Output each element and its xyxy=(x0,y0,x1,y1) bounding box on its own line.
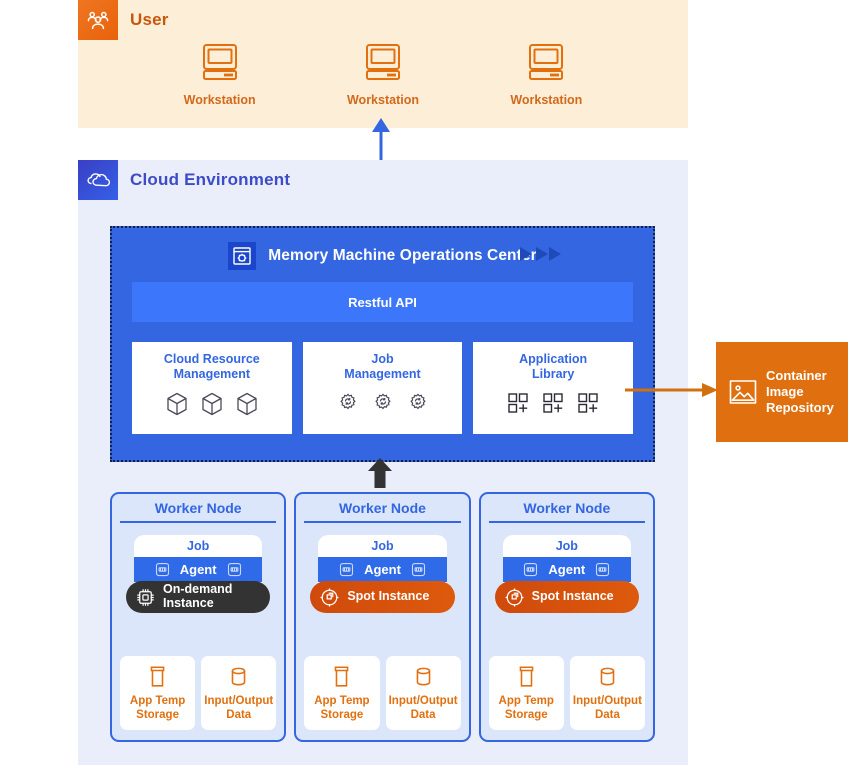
user-band-header: User xyxy=(78,0,688,40)
card-title-line1: Job xyxy=(344,352,420,367)
memory-chip-icon xyxy=(595,562,610,577)
workstation-item[interactable]: Workstation xyxy=(155,42,285,107)
storage-label-line1: Input/Output xyxy=(573,695,642,708)
storage-label: Input/Output Data xyxy=(389,695,458,721)
agent-bar[interactable]: Agent xyxy=(503,557,631,582)
operations-center-panel: Memory Machine Operations Center Restful… xyxy=(110,226,655,462)
diagram-canvas: User Workstation Workstation xyxy=(0,0,856,772)
cpu-chip-icon xyxy=(135,587,156,608)
card-job-management[interactable]: Job Management xyxy=(303,342,463,434)
memory-chip-icon xyxy=(523,562,538,577)
bucket-icon xyxy=(146,664,169,690)
restful-api-label: Restful API xyxy=(348,295,417,310)
play-triangle-icon xyxy=(535,246,549,262)
storage-label-line2: Data xyxy=(389,709,458,722)
agent-bar[interactable]: Agent xyxy=(318,557,446,582)
instance-pill-spot[interactable]: Spot Instance xyxy=(310,581,454,613)
instance-label-line1: Spot Instance xyxy=(347,589,429,603)
storage-card-io-data[interactable]: Input/Output Data xyxy=(201,656,276,730)
storage-label-line1: App Temp xyxy=(130,695,185,708)
job-stack: Job Agent Spot Instance xyxy=(304,535,460,613)
card-title-line2: Management xyxy=(164,367,260,382)
job-label: Job xyxy=(503,535,631,553)
worker-node-title: Worker Node xyxy=(304,500,460,523)
storage-label-line2: Data xyxy=(204,709,273,722)
container-repo-label: Container Image Repository xyxy=(766,368,834,417)
spot-target-icon xyxy=(319,587,340,608)
storage-label-line1: Input/Output xyxy=(204,695,273,708)
user-section-title: User xyxy=(130,0,169,40)
workstation-row: Workstation Workstation Workstat xyxy=(78,42,688,128)
card-title: Cloud Resource Management xyxy=(164,352,260,382)
memory-chip-icon xyxy=(339,562,354,577)
app-grid-plus-icon xyxy=(507,392,529,414)
agent-label: Agent xyxy=(548,562,585,577)
card-cloud-resource-management[interactable]: Cloud Resource Management xyxy=(132,342,292,434)
gear-sync-icon xyxy=(407,392,429,414)
memory-chip-icon xyxy=(155,562,170,577)
storage-card-app-temp[interactable]: App Temp Storage xyxy=(489,656,564,730)
worker-node[interactable]: Worker Node Job Agent Spot Instance xyxy=(294,492,470,742)
workstation-label: Workstation xyxy=(155,93,285,107)
storage-card-io-data[interactable]: Input/Output Data xyxy=(386,656,461,730)
instance-label: Spot Instance xyxy=(347,590,429,604)
repo-label-line3: Repository xyxy=(766,400,834,416)
cloud-icon xyxy=(78,160,118,200)
worker-node[interactable]: Worker Node Job Agent Spot Instance xyxy=(479,492,655,742)
app-grid-plus-icon xyxy=(542,392,564,414)
card-icon-row xyxy=(337,392,429,414)
database-cylinder-icon xyxy=(227,664,250,690)
card-title-line2: Management xyxy=(344,367,420,382)
cube-3d-icon xyxy=(201,392,223,416)
card-title-line2: Library xyxy=(519,367,587,382)
instance-label-line1: Spot Instance xyxy=(532,589,614,603)
agent-label: Agent xyxy=(364,562,401,577)
operations-center-cards: Cloud Resource Management Job Management xyxy=(132,342,633,434)
worker-flow-arrows-left xyxy=(519,246,549,262)
cube-3d-icon xyxy=(166,392,188,416)
instance-label-line1: On-demand xyxy=(163,582,232,596)
job-stack: Job Agent On-demand Instance xyxy=(120,535,276,613)
storage-label: App Temp Storage xyxy=(314,695,369,721)
window-gear-icon xyxy=(228,242,256,270)
worker-node-title: Worker Node xyxy=(489,500,645,523)
spot-target-icon xyxy=(504,587,525,608)
database-cylinder-icon xyxy=(412,664,435,690)
instance-pill-ondemand[interactable]: On-demand Instance xyxy=(126,581,270,613)
monitor-icon xyxy=(364,42,402,82)
restful-api-bar[interactable]: Restful API xyxy=(132,282,633,322)
card-title: Application Library xyxy=(519,352,587,382)
job-stack: Job Agent Spot Instance xyxy=(489,535,645,613)
connector-workers-to-ops-center xyxy=(366,458,394,493)
instance-label: On-demand Instance xyxy=(163,583,232,611)
bucket-icon xyxy=(515,664,538,690)
storage-card-app-temp[interactable]: App Temp Storage xyxy=(120,656,195,730)
worker-node[interactable]: Worker Node Job Agent On-demand xyxy=(110,492,286,742)
storage-label: App Temp Storage xyxy=(499,695,554,721)
container-image-repository[interactable]: Container Image Repository xyxy=(716,342,848,442)
monitor-icon xyxy=(201,42,239,82)
memory-chip-icon xyxy=(227,562,242,577)
card-title: Job Management xyxy=(344,352,420,382)
storage-card-io-data[interactable]: Input/Output Data xyxy=(570,656,645,730)
memory-chip-icon xyxy=(411,562,426,577)
instance-label-line2: Instance xyxy=(163,596,214,610)
storage-label-line1: App Temp xyxy=(314,695,369,708)
storage-label-line2: Storage xyxy=(130,709,185,722)
workstation-label: Workstation xyxy=(481,93,611,107)
instance-label: Spot Instance xyxy=(532,590,614,604)
card-application-library[interactable]: Application Library xyxy=(473,342,633,434)
cloud-section-title: Cloud Environment xyxy=(130,160,290,200)
instance-pill-spot[interactable]: Spot Instance xyxy=(495,581,639,613)
agent-bar[interactable]: Agent xyxy=(134,557,262,582)
storage-card-app-temp[interactable]: App Temp Storage xyxy=(304,656,379,730)
workstation-item[interactable]: Workstation xyxy=(481,42,611,107)
bucket-icon xyxy=(330,664,353,690)
agent-label: Agent xyxy=(180,562,217,577)
storage-label: App Temp Storage xyxy=(130,695,185,721)
app-grid-plus-icon xyxy=(577,392,599,414)
user-section: User Workstation Workstation xyxy=(78,0,688,128)
image-picture-icon xyxy=(728,377,758,407)
play-triangle-icon xyxy=(548,246,562,262)
operations-center-title: Memory Machine Operations Center xyxy=(268,247,537,265)
storage-row: App Temp Storage Input/Output Data xyxy=(304,656,460,730)
job-label: Job xyxy=(318,535,446,553)
storage-label-line1: Input/Output xyxy=(389,695,458,708)
job-label: Job xyxy=(134,535,262,553)
database-cylinder-icon xyxy=(596,664,619,690)
cube-3d-icon xyxy=(236,392,258,416)
play-triangle-icon xyxy=(519,246,533,262)
cloud-band-header: Cloud Environment xyxy=(78,160,688,200)
workstation-label: Workstation xyxy=(318,93,448,107)
repo-label-line2: Image xyxy=(766,384,834,400)
storage-label: Input/Output Data xyxy=(573,695,642,721)
connector-app-library-to-repo xyxy=(625,382,720,403)
storage-row: App Temp Storage Input/Output Data xyxy=(120,656,276,730)
users-group-icon xyxy=(78,0,118,40)
storage-label: Input/Output Data xyxy=(204,695,273,721)
card-title-line1: Application xyxy=(519,352,587,367)
worker-flow-arrows-right xyxy=(548,246,562,262)
storage-label-line2: Data xyxy=(573,709,642,722)
card-icon-row xyxy=(507,392,599,414)
storage-row: App Temp Storage Input/Output Data xyxy=(489,656,645,730)
storage-label-line2: Storage xyxy=(314,709,369,722)
gear-sync-icon xyxy=(372,392,394,414)
card-icon-row xyxy=(166,392,258,416)
worker-node-title: Worker Node xyxy=(120,500,276,523)
card-title-line1: Cloud Resource xyxy=(164,352,260,367)
monitor-icon xyxy=(527,42,565,82)
storage-label-line1: App Temp xyxy=(499,695,554,708)
storage-label-line2: Storage xyxy=(499,709,554,722)
workstation-item[interactable]: Workstation xyxy=(318,42,448,107)
gear-sync-icon xyxy=(337,392,359,414)
worker-nodes-area: Worker Node Job Agent On-demand xyxy=(110,492,655,742)
repo-label-line1: Container xyxy=(766,368,834,384)
